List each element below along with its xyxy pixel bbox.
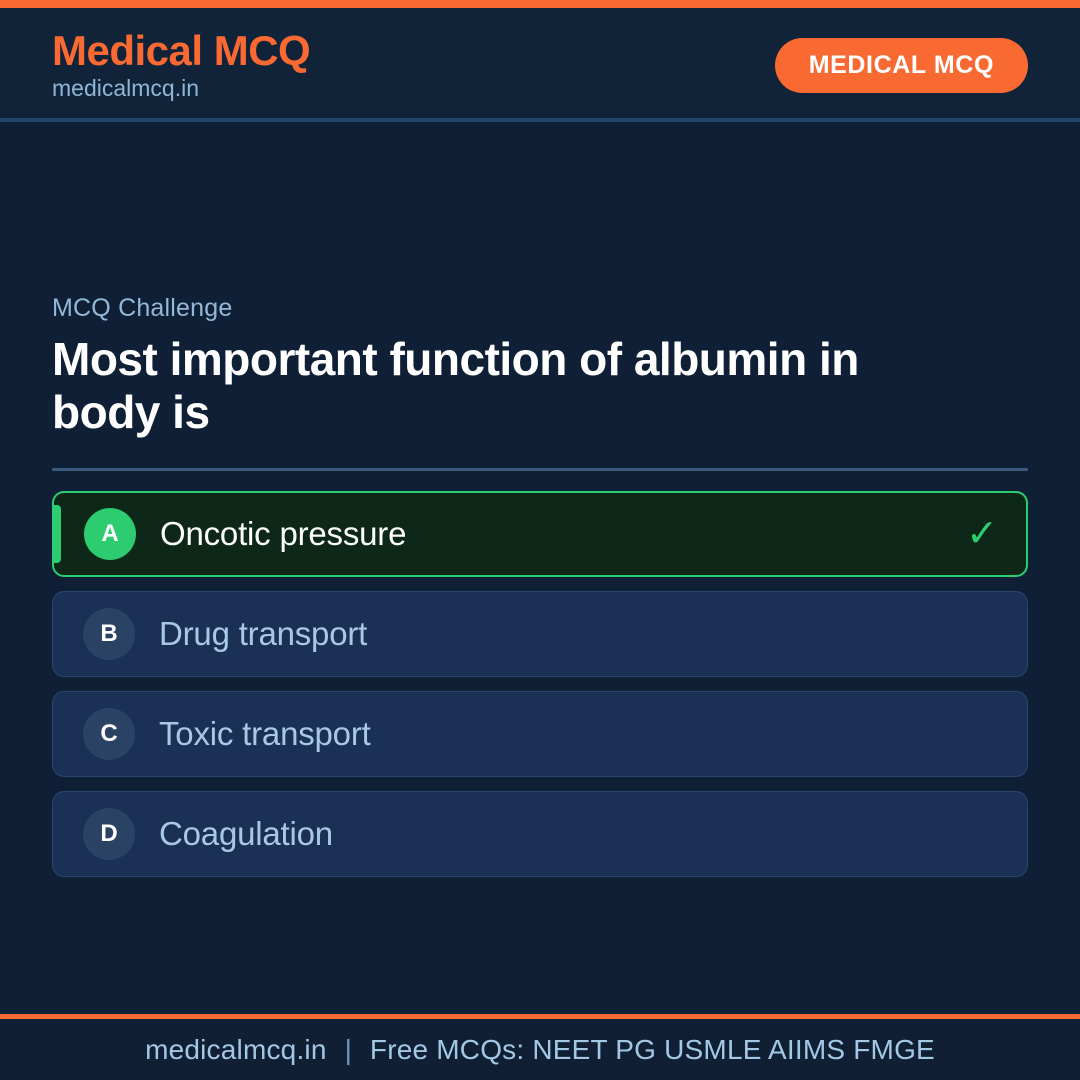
option-letter-badge: A xyxy=(84,508,136,560)
option-a[interactable]: AOncotic pressure✓ xyxy=(52,491,1028,577)
footer-site: medicalmcq.in xyxy=(145,1034,327,1066)
brand-subtitle: medicalmcq.in xyxy=(52,76,310,101)
option-label: Drug transport xyxy=(159,615,367,653)
top-accent-bar xyxy=(0,0,1080,8)
option-d[interactable]: DCoagulation xyxy=(52,791,1028,877)
header: Medical MCQ medicalmcq.in MEDICAL MCQ xyxy=(0,8,1080,122)
footer-links: Free MCQs: NEET PG USMLE AIIMS FMGE xyxy=(370,1034,935,1066)
option-letter-badge: B xyxy=(83,608,135,660)
options-list: AOncotic pressure✓BDrug transportCToxic … xyxy=(52,491,1028,877)
option-b[interactable]: BDrug transport xyxy=(52,591,1028,677)
option-label: Toxic transport xyxy=(159,715,371,753)
footer-separator: | xyxy=(327,1034,370,1066)
question-divider xyxy=(52,468,1028,471)
option-label: Coagulation xyxy=(159,815,333,853)
brand: Medical MCQ medicalmcq.in xyxy=(52,29,310,101)
question-block: MCQ Challenge Most important function of… xyxy=(52,294,1028,877)
option-label: Oncotic pressure xyxy=(160,515,406,553)
checkmark-icon: ✓ xyxy=(966,515,998,553)
question-kicker: MCQ Challenge xyxy=(52,294,1028,323)
option-c[interactable]: CToxic transport xyxy=(52,691,1028,777)
brand-title: Medical MCQ xyxy=(52,29,310,73)
question-text: Most important function of albumin in bo… xyxy=(52,333,892,440)
medical-mcq-badge: MEDICAL MCQ xyxy=(775,38,1028,93)
option-letter-badge: C xyxy=(83,708,135,760)
mcq-card: Medical MCQ medicalmcq.in MEDICAL MCQ MC… xyxy=(0,0,1080,1080)
option-letter-badge: D xyxy=(83,808,135,860)
footer: medicalmcq.in | Free MCQs: NEET PG USMLE… xyxy=(0,1014,1080,1080)
correct-accent-bar xyxy=(54,505,61,563)
main-body: MCQ Challenge Most important function of… xyxy=(0,122,1080,1014)
